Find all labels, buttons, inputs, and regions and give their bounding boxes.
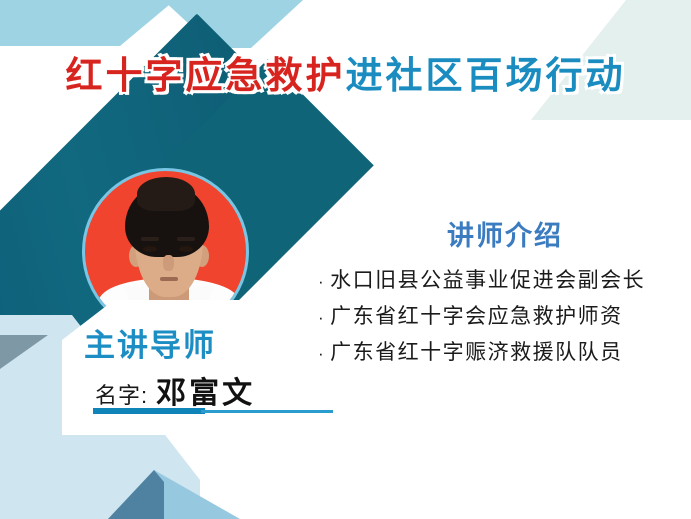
list-item: · 广东省红十字会应急救护师资 <box>318 306 678 327</box>
bullet-dot-icon: · <box>318 273 325 290</box>
name-field-label: 名字: <box>95 378 148 410</box>
name-underline-rule <box>93 408 333 416</box>
poster-canvas: 红十字应急救护进社区百场行动 主讲导师 名字: 邓富文 讲师介绍 · 水口旧县公… <box>0 0 691 519</box>
portrait-eye-right <box>179 246 193 252</box>
portrait-nose <box>163 255 174 271</box>
rule-segment-thick <box>93 408 205 414</box>
list-item: · 广东省红十字赈济救援队队员 <box>318 342 678 363</box>
portrait-brow-left <box>141 237 159 241</box>
name-field-value: 邓富文 <box>156 368 255 412</box>
instructor-name-row: 名字: 邓富文 <box>95 368 255 412</box>
list-item-label: 广东省红十字赈济救援队队员 <box>330 342 623 363</box>
bullet-dot-icon: · <box>318 345 325 362</box>
portrait-mouth <box>160 277 178 281</box>
list-item-label: 广东省红十字会应急救护师资 <box>330 306 623 327</box>
bullet-dot-icon: · <box>318 309 325 326</box>
decor-top-left-block <box>0 0 175 46</box>
page-title: 红十字应急救护进社区百场行动 <box>0 56 691 97</box>
list-item-label: 水口旧县公益事业促进会副会长 <box>330 270 645 291</box>
instructor-credentials-list: · 水口旧县公益事业促进会副会长 · 广东省红十字会应急救护师资 · 广东省红十… <box>318 270 678 378</box>
section-heading-instructor-intro: 讲师介绍 <box>420 214 590 253</box>
list-item: · 水口旧县公益事业促进会副会长 <box>318 270 678 291</box>
portrait-eye-left <box>143 246 157 252</box>
portrait-brow-right <box>177 237 195 241</box>
page-title-red: 红十字应急救护 <box>66 55 346 96</box>
portrait-hair-top <box>137 177 195 211</box>
page-title-blue: 进社区百场行动 <box>346 55 626 96</box>
role-label: 主讲导师 <box>84 320 216 365</box>
rule-segment-thin <box>201 410 333 413</box>
